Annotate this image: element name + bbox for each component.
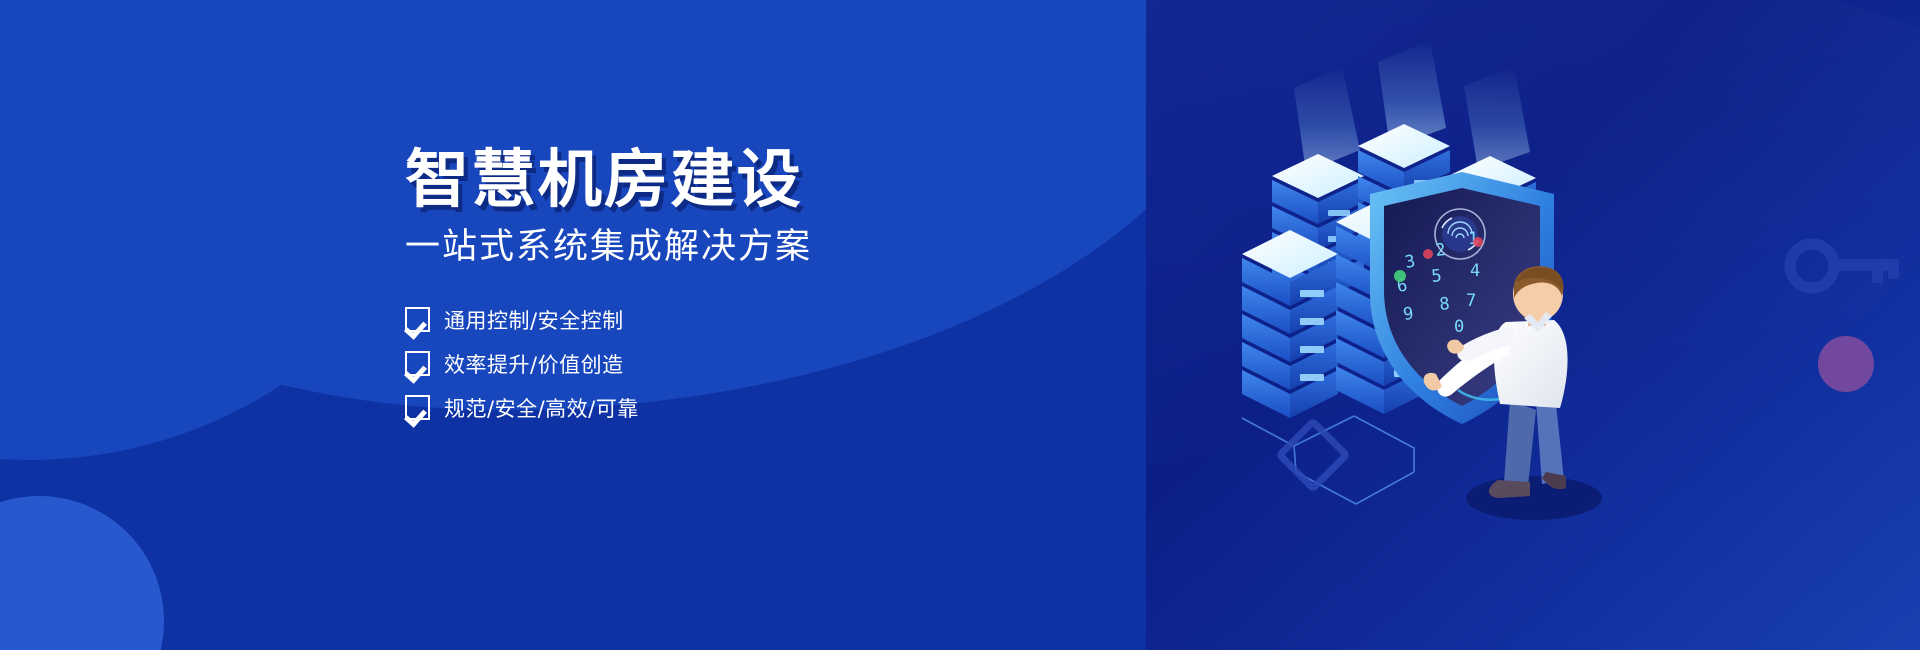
svg-text:7: 7 (1466, 291, 1476, 311)
background-circle-bottom-left (0, 496, 164, 650)
feature-label: 通用控制/安全控制 (444, 305, 624, 335)
feature-label: 规范/安全/高效/可靠 (444, 393, 639, 423)
feature-list: 通用控制/安全控制 效率提升/价值创造 规范/安全/高效/可靠 (405, 305, 965, 423)
rack-front-left (1242, 230, 1338, 418)
list-item: 通用控制/安全控制 (405, 305, 965, 335)
checkbox-check-icon (405, 395, 430, 420)
page-title: 智慧机房建设 (405, 148, 976, 212)
hero-banner: 智慧机房建设 一站式系统集成解决方案 通用控制/安全控制 效率提升/价值创造 规… (0, 0, 1920, 650)
list-item: 效率提升/价值创造 (405, 349, 965, 379)
checkbox-check-icon (405, 307, 430, 332)
svg-text:2: 2 (1434, 240, 1446, 261)
key-icon (1790, 244, 1899, 288)
illustration-svg: 3 6 9 2 5 8 1 4 7 0 (1146, 0, 1920, 650)
trousers-front (1536, 402, 1564, 484)
svg-text:4: 4 (1470, 261, 1480, 281)
left-content-panel: 智慧机房建设 一站式系统集成解决方案 通用控制/安全控制 效率提升/价值创造 规… (0, 0, 1146, 650)
feature-label: 效率提升/价值创造 (444, 349, 624, 379)
svg-text:8: 8 (1438, 294, 1450, 315)
list-item: 规范/安全/高效/可靠 (405, 393, 965, 423)
checkbox-check-icon (405, 351, 430, 376)
hero-text-block: 智慧机房建设 一站式系统集成解决方案 通用控制/安全控制 效率提升/价值创造 规… (405, 148, 965, 437)
trousers (1504, 400, 1536, 486)
page-subtitle: 一站式系统集成解决方案 (405, 228, 965, 267)
illustration-panel: 3 6 9 2 5 8 1 4 7 0 (1146, 0, 1920, 650)
svg-text:0: 0 (1454, 317, 1464, 337)
svg-text:5: 5 (1430, 266, 1442, 287)
purple-circle-decor (1818, 336, 1874, 392)
